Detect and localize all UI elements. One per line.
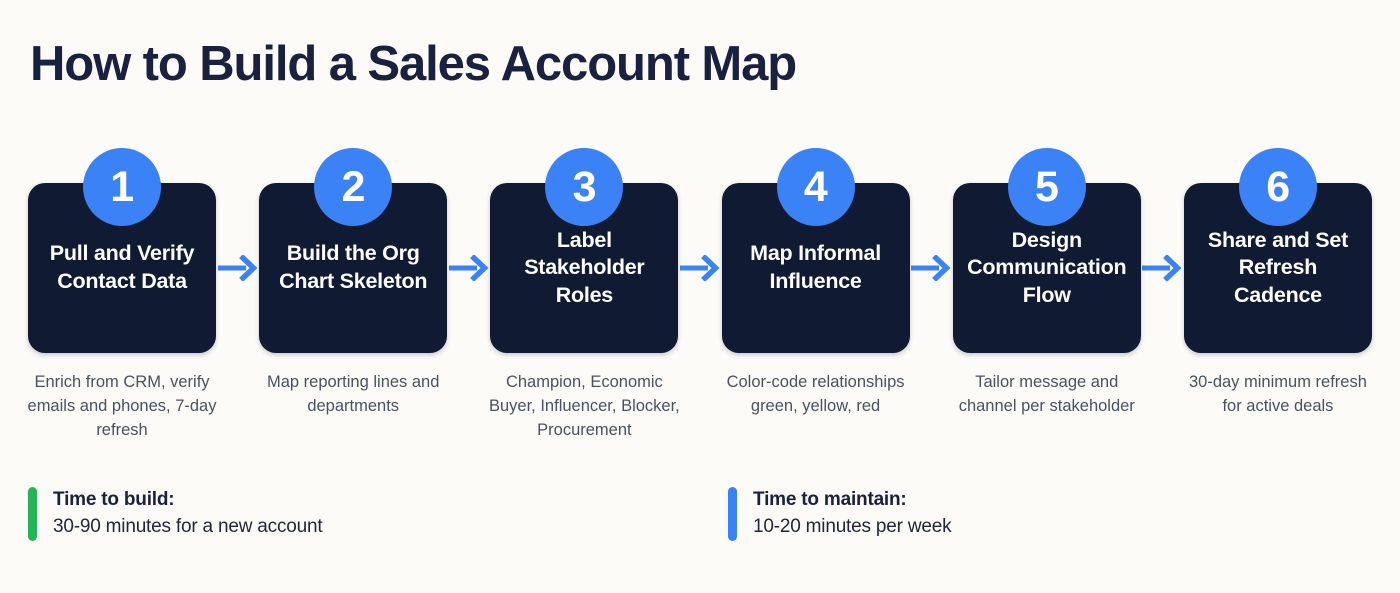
step-card-wrap-5: 5 Design Communication Flow: [953, 148, 1141, 353]
step-caption-4: Color-code relationships green, yellow, …: [716, 371, 916, 419]
footer-notes: Time to build: 30-90 minutes for a new a…: [28, 487, 1372, 541]
step-number-badge-2: 2: [314, 148, 392, 226]
step-caption-1: Enrich from CRM, verify emails and phone…: [22, 371, 222, 443]
step-number-badge-3: 3: [545, 148, 623, 226]
step-card-2: 2 Build the Org Chart Skeleton Map repor…: [259, 148, 447, 419]
arrow-icon-4: [910, 148, 952, 353]
note-value-maintain: 10-20 minutes per week: [753, 514, 951, 541]
step-number-badge-4: 4: [777, 148, 855, 226]
note-time-to-build: Time to build: 30-90 minutes for a new a…: [28, 487, 728, 541]
step-title-5: Design Communication Flow: [965, 227, 1129, 310]
step-card-wrap-6: 6 Share and Set Refresh Cadence: [1184, 148, 1372, 353]
note-text-maintain: Time to maintain: 10-20 minutes per week: [753, 487, 951, 541]
step-card-wrap-4: 4 Map Informal Influence: [722, 148, 910, 353]
infographic-root: How to Build a Sales Account Map 1 Pull …: [0, 0, 1400, 593]
step-caption-5: Tailor message and channel per stakehold…: [947, 371, 1147, 419]
page-title: How to Build a Sales Account Map: [30, 38, 796, 91]
step-number-badge-1: 1: [83, 148, 161, 226]
step-title-2: Build the Org Chart Skeleton: [271, 240, 435, 295]
step-card-wrap-1: 1 Pull and Verify Contact Data: [28, 148, 216, 353]
step-number-badge-6: 6: [1239, 148, 1317, 226]
step-card-wrap-2: 2 Build the Org Chart Skeleton: [259, 148, 447, 353]
step-caption-3: Champion, Economic Buyer, Influencer, Bl…: [484, 371, 684, 443]
step-card-1: 1 Pull and Verify Contact Data Enrich fr…: [28, 148, 216, 443]
note-value-build: 30-90 minutes for a new account: [53, 514, 322, 541]
note-accent-bar-blue: [728, 487, 737, 541]
step-number-badge-5: 5: [1008, 148, 1086, 226]
step-title-6: Share and Set Refresh Cadence: [1196, 227, 1360, 310]
arrow-icon-1: [217, 148, 259, 353]
step-card-4: 4 Map Informal Influence Color-code rela…: [722, 148, 910, 419]
note-label-build: Time to build:: [53, 487, 322, 514]
step-card-3: 3 Label Stakeholder Roles Champion, Econ…: [490, 148, 678, 443]
step-title-4: Map Informal Influence: [734, 240, 898, 295]
step-caption-6: 30-day minimum refresh for active deals: [1178, 371, 1378, 419]
step-caption-2: Map reporting lines and departments: [253, 371, 453, 419]
step-title-3: Label Stakeholder Roles: [502, 227, 666, 310]
step-card-5: 5 Design Communication Flow Tailor messa…: [953, 148, 1141, 419]
step-title-1: Pull and Verify Contact Data: [40, 240, 204, 295]
note-label-maintain: Time to maintain:: [753, 487, 951, 514]
arrow-icon-2: [448, 148, 490, 353]
note-time-to-maintain: Time to maintain: 10-20 minutes per week: [728, 487, 951, 541]
note-accent-bar-green: [28, 487, 37, 541]
note-text-build: Time to build: 30-90 minutes for a new a…: [53, 487, 322, 541]
step-card-6: 6 Share and Set Refresh Cadence 30-day m…: [1184, 148, 1372, 419]
step-card-wrap-3: 3 Label Stakeholder Roles: [490, 148, 678, 353]
arrow-icon-5: [1141, 148, 1183, 353]
arrow-icon-3: [679, 148, 721, 353]
steps-row: 1 Pull and Verify Contact Data Enrich fr…: [28, 148, 1372, 443]
